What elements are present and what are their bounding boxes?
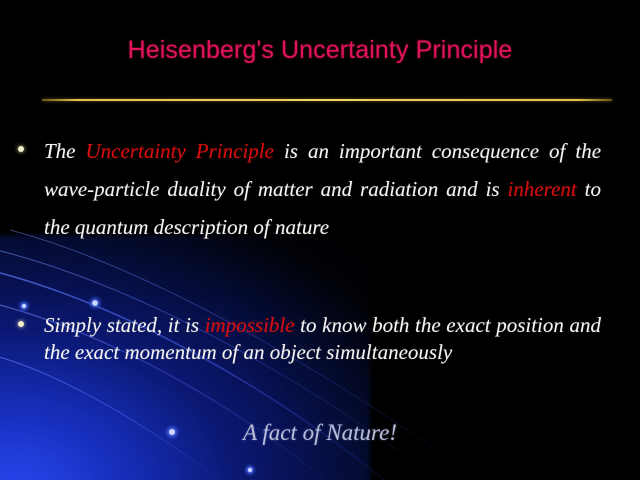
bullet-segment-emphasis: Uncertainty Principle: [86, 139, 274, 163]
bullet-segment-plain: Simply stated, it is: [44, 313, 205, 337]
bullet-segment-emphasis: inherent: [508, 177, 577, 201]
bullet-dot-icon: [18, 321, 24, 327]
bullet-segment-plain: The: [44, 139, 86, 163]
title-divider-rule: [42, 99, 612, 101]
closing-statement: A fact of Nature!: [0, 420, 640, 446]
bullet-segment-emphasis: impossible: [205, 313, 295, 337]
slide-title: Heisenberg's Uncertainty Principle: [0, 36, 640, 65]
bullet-dot-icon: [18, 146, 24, 152]
bullet-text: Simply stated, it is impossible to know …: [44, 312, 601, 366]
bullet-item: The Uncertainty Principle is an importan…: [0, 132, 640, 252]
presentation-slide: Heisenberg's Uncertainty Principle The U…: [0, 0, 640, 480]
bullet-item: Simply stated, it is impossible to know …: [0, 312, 640, 402]
bullet-text: The Uncertainty Principle is an importan…: [44, 132, 601, 246]
